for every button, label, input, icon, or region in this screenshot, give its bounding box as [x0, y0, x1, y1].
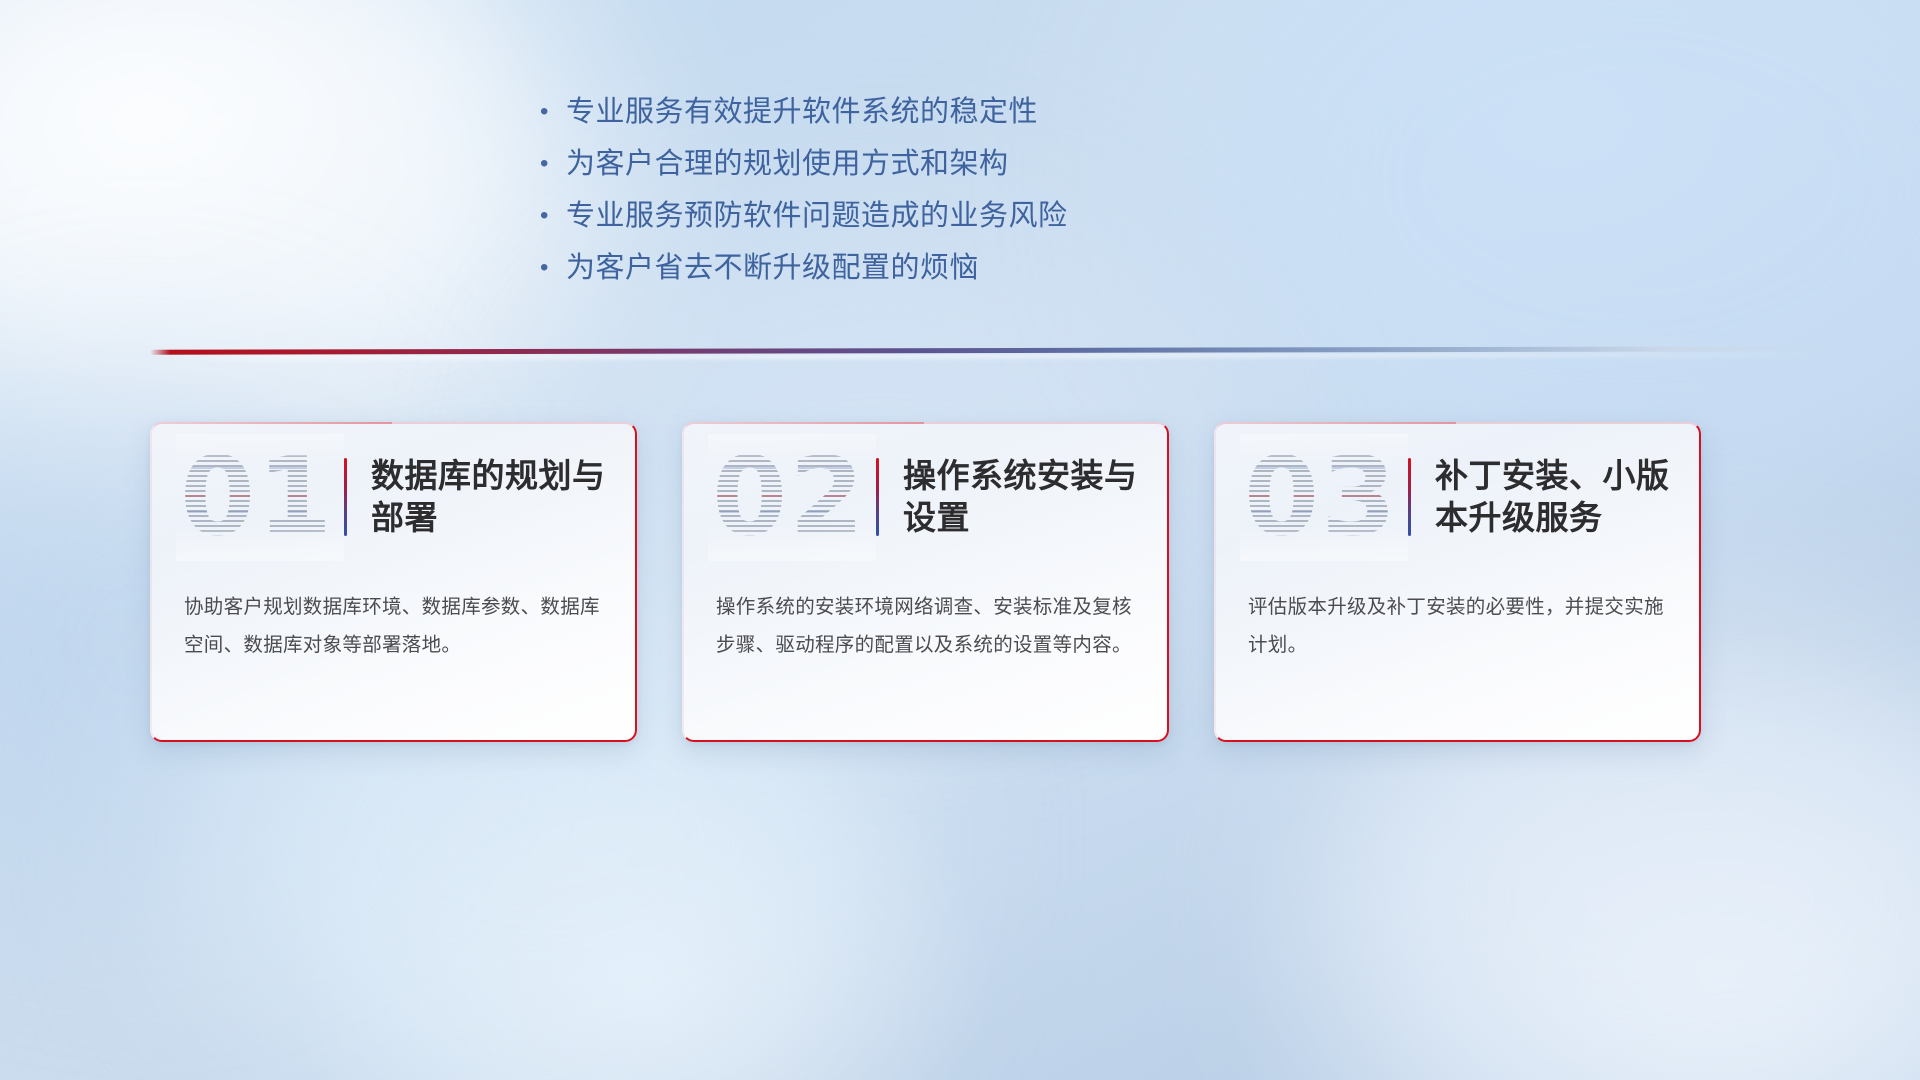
card-body-text: 协助客户规划数据库环境、数据库参数、数据库空间、数据库对象等部署落地。: [150, 572, 637, 664]
card-header: 01 01 数据库的规划与部署: [150, 422, 637, 572]
bullet-text: 为客户合理的规划使用方式和架构: [566, 140, 1009, 182]
bullet-dot-icon: •: [540, 100, 566, 124]
bullet-dot-icon: •: [540, 204, 566, 228]
card-title: 数据库的规划与部署: [371, 455, 621, 538]
list-item: • 专业服务有效提升软件系统的稳定性: [540, 88, 1300, 140]
list-item: • 专业服务预防软件问题造成的业务风险: [540, 192, 1300, 244]
bullet-dot-icon: •: [540, 152, 566, 176]
card-number-tint: 01: [180, 440, 334, 555]
card-header: 02 02 操作系统安装与设置: [682, 422, 1169, 572]
card-number-01: 01 01: [180, 440, 340, 555]
card-title-accent-bar: [344, 458, 347, 536]
card-title-accent-bar: [1408, 458, 1411, 536]
bullet-text: 专业服务预防软件问题造成的业务风险: [566, 192, 1068, 234]
card-number-tint: 03: [1244, 440, 1398, 555]
card-number-03: 03 03: [1244, 440, 1404, 555]
bullet-dot-icon: •: [540, 256, 566, 280]
service-card-03[interactable]: 03 03 补丁安装、小版本升级服务 评估版本升级及补丁安装的必要性，并提交实施…: [1214, 422, 1701, 742]
card-number-tint: 02: [712, 440, 866, 555]
service-card-01[interactable]: 01 01 数据库的规划与部署 协助客户规划数据库环境、数据库参数、数据库空间、…: [150, 422, 637, 742]
card-body-text: 操作系统的安装环境网络调查、安装标准及复核步骤、驱动程序的配置以及系统的设置等内…: [682, 572, 1169, 664]
card-header: 03 03 补丁安装、小版本升级服务: [1214, 422, 1701, 572]
card-number-02: 02 02: [712, 440, 872, 555]
card-title: 操作系统安装与设置: [903, 455, 1153, 538]
benefits-bullet-list: • 专业服务有效提升软件系统的稳定性 • 为客户合理的规划使用方式和架构 • 专…: [540, 88, 1300, 296]
card-title-accent-bar: [876, 458, 879, 536]
slide-canvas: • 专业服务有效提升软件系统的稳定性 • 为客户合理的规划使用方式和架构 • 专…: [0, 0, 1920, 1080]
list-item: • 为客户省去不断升级配置的烦恼: [540, 244, 1300, 296]
bullet-text: 专业服务有效提升软件系统的稳定性: [566, 88, 1038, 130]
card-title: 补丁安装、小版本升级服务: [1435, 455, 1685, 538]
service-card-list: 01 01 数据库的规划与部署 协助客户规划数据库环境、数据库参数、数据库空间、…: [150, 422, 1780, 742]
section-divider: [150, 344, 1830, 362]
list-item: • 为客户合理的规划使用方式和架构: [540, 140, 1300, 192]
bullet-text: 为客户省去不断升级配置的烦恼: [566, 244, 979, 286]
service-card-02[interactable]: 02 02 操作系统安装与设置 操作系统的安装环境网络调查、安装标准及复核步骤、…: [682, 422, 1169, 742]
card-body-text: 评估版本升级及补丁安装的必要性，并提交实施计划。: [1214, 572, 1701, 664]
